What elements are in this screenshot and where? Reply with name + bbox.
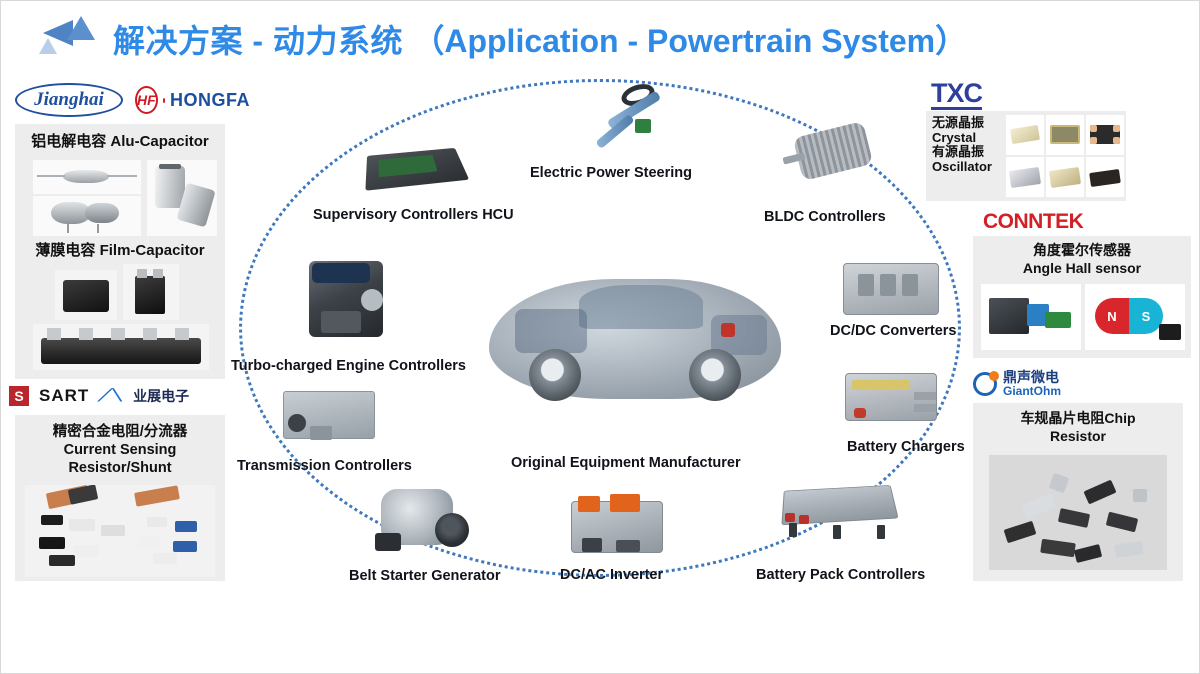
magnet-pole-n: N — [1095, 298, 1129, 334]
film-capacitor-title-cn: 薄膜电容 — [35, 242, 95, 259]
photo-chip-resistors — [989, 455, 1167, 570]
powertrain-diagram: Supervisory Controllers HCU Electric Pow… — [227, 73, 975, 585]
page-title-en: （Application - Powertrain System） — [412, 23, 967, 59]
photo-shunt-resistors — [25, 485, 215, 577]
chip-resistor-title-en: Resistor — [973, 428, 1183, 446]
photo-charger-housing — [845, 373, 937, 421]
photo-film-capacitor-box — [55, 270, 117, 320]
slide-canvas: 解决方案 - 动力系统 （Application - Powertrain Sy… — [0, 0, 1200, 674]
brand-logo-yezhan-text: 业展电子 — [133, 386, 189, 406]
photo-generator-mount — [375, 533, 401, 551]
brand-logo-conntek: CONNTEK — [983, 209, 1103, 235]
node-battery-chargers — [835, 361, 955, 437]
current-sensing-title-en-2: Resistor/Shunt — [15, 459, 225, 477]
photo-magnet-ns: N S — [1085, 284, 1185, 350]
film-capacitor-title-en: Film-Capacitor — [100, 242, 205, 259]
label-dcac-inverter: DC/AC Inverter — [560, 567, 663, 583]
node-original-equipment-manufacturer — [475, 251, 795, 449]
current-sensing-resistor-title: 精密合金电阻/分流器 Current Sensing Resistor/Shun… — [15, 423, 225, 477]
photo-pulley — [435, 513, 469, 547]
photo-radial-capacitor — [33, 196, 141, 236]
brand-logo-giantohm-text-en: GiantOhm — [1003, 385, 1061, 398]
node-bldc-controllers — [775, 115, 885, 191]
photo-rear-wheel — [689, 349, 741, 401]
triangles-logo-icon — [37, 16, 99, 62]
label-battery-chargers: Battery Chargers — [847, 439, 965, 455]
panel-chip-resistor: 车规晶片电阻Chip Resistor — [973, 403, 1183, 581]
photo-oscillator-1 — [1006, 157, 1044, 197]
photo-vehicle-cabin — [579, 285, 703, 329]
photo-rear-battery — [721, 323, 735, 337]
label-dcdc-converters: DC/DC Converters — [830, 323, 957, 339]
photo-power-module — [33, 324, 209, 370]
photo-oscillator-2 — [1046, 157, 1084, 197]
photo-battery-terminal-1 — [785, 513, 795, 522]
brand-logo-sart-text: SART — [39, 386, 89, 406]
magnet-pole-s: S — [1129, 298, 1163, 334]
photo-engine-bay — [515, 309, 587, 353]
label-transmission-controllers: Transmission Controllers — [237, 458, 412, 474]
node-electric-power-steering — [577, 83, 697, 157]
alu-capacitor-title: 铝电解电容 Alu-Capacitor — [15, 133, 225, 152]
photo-dcdc-housing — [843, 263, 939, 315]
photo-inverter-housing — [571, 501, 663, 553]
node-supervisory-controllers-hcu — [345, 135, 467, 201]
page-title-cn: 解决方案 - 动力系统 — [113, 23, 403, 59]
photo-hcu-module — [365, 148, 469, 191]
photo-crystal-3 — [1086, 115, 1124, 155]
brand-logo-giantohm: 鼎声微电 GiantOhm — [973, 369, 1123, 399]
node-turbo-charged-engine — [281, 255, 411, 345]
brand-logo-conntek-text: CONNTEK — [983, 210, 1083, 234]
photo-crystal-1 — [1006, 115, 1044, 155]
photo-crystal-2 — [1046, 115, 1084, 155]
label-bldc-controllers: BLDC Controllers — [764, 209, 886, 225]
page-title: 解决方案 - 动力系统 （Application - Powertrain Sy… — [113, 16, 967, 62]
photo-steering-ecu — [635, 119, 651, 133]
angle-hall-sensor-title: 角度霍尔传感器 Angle Hall sensor — [973, 242, 1191, 277]
brand-logos-sart-yezhan: S SART ⟋⟍ 业展电子 — [9, 383, 225, 409]
brand-logo-jianghai: Jianghai — [15, 83, 123, 117]
giantohm-mark-icon — [973, 372, 997, 396]
panel-current-sensing-resistor: 精密合金电阻/分流器 Current Sensing Resistor/Shun… — [15, 415, 225, 581]
photo-turbo-engine — [309, 261, 383, 337]
film-capacitor-title: 薄膜电容 Film-Capacitor — [15, 242, 225, 261]
label-turbo-charged-engine-controllers: Turbo-charged Engine Controllers — [231, 358, 466, 374]
node-belt-starter-generator — [359, 481, 487, 565]
hongfa-dot-icon — [163, 98, 165, 103]
photo-transmission-ecu — [283, 391, 375, 439]
label-electric-power-steering: Electric Power Steering — [530, 165, 692, 181]
angle-hall-title-en: Angle Hall sensor — [973, 260, 1191, 278]
chip-resistor-title: 车规晶片电阻Chip Resistor — [973, 410, 1183, 445]
brand-logo-giantohm-text-cn: 鼎声微电 — [1003, 370, 1061, 385]
node-battery-pack-controllers — [767, 471, 917, 553]
angle-hall-title-cn: 角度霍尔传感器 — [973, 242, 1191, 260]
current-sensing-title-en-1: Current Sensing — [15, 441, 225, 459]
photo-oscillator-3 — [1086, 157, 1124, 197]
alu-capacitor-title-en: Alu-Capacitor — [110, 133, 208, 150]
photo-hall-motor — [981, 284, 1081, 350]
photo-bldc-motor — [793, 121, 874, 181]
sart-mark-icon: S — [9, 386, 29, 406]
yezhan-mark-icon: ⟋⟍ — [97, 386, 125, 406]
label-battery-pack-controllers: Battery Pack Controllers — [756, 567, 925, 583]
node-transmission-controllers — [267, 383, 387, 453]
node-dcdc-converters — [831, 253, 951, 327]
node-dcac-inverter — [557, 487, 677, 567]
slide-header: 解决方案 - 动力系统 （Application - Powertrain Sy… — [1, 1, 1200, 77]
bottom-supplier-strip: K 快捷鑫 KUAIJIEXIN E ZMJSEMI MOSFET IGBT — [1, 585, 1200, 674]
panel-capacitors: 铝电解电容 Alu-Capacitor 薄膜电容 Film-Capacitor — [15, 124, 225, 379]
brand-logo-jianghai-text: Jianghai — [34, 89, 104, 111]
chip-resistor-title-cn: 车规晶片电阻Chip — [973, 410, 1183, 428]
label-original-equipment-manufacturer: Original Equipment Manufacturer — [511, 455, 741, 471]
photo-front-wheel — [529, 349, 581, 401]
photo-film-capacitor-tall — [123, 264, 179, 320]
panel-angle-hall-sensor: 角度霍尔传感器 Angle Hall sensor N S — [973, 236, 1191, 358]
hongfa-mark-icon: HF — [135, 86, 158, 114]
label-supervisory-controllers-hcu: Supervisory Controllers HCU — [313, 207, 514, 223]
photo-axial-capacitor — [33, 160, 141, 194]
label-belt-starter-generator: Belt Starter Generator — [349, 568, 501, 584]
photo-screw-terminal-capacitor — [147, 160, 217, 236]
alu-capacitor-title-cn: 铝电解电容 — [31, 133, 106, 150]
photo-battery-terminal-2 — [799, 515, 809, 524]
current-sensing-title-cn: 精密合金电阻/分流器 — [15, 423, 225, 441]
